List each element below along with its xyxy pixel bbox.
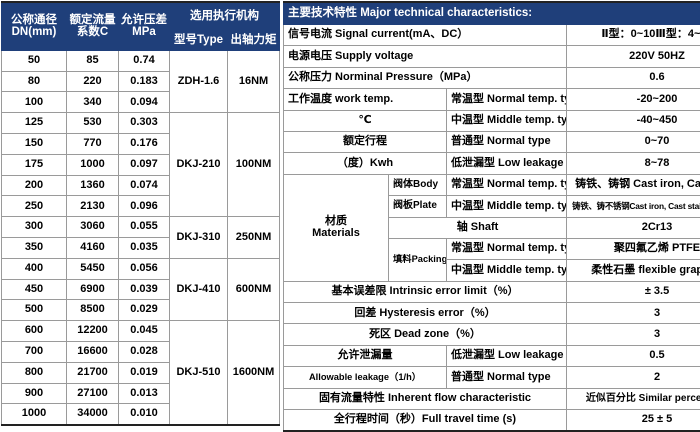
material-plate-middle-label: 中温型 Middle temp. type xyxy=(447,196,567,217)
left-header-row-1: 公称通径DN(mm)额定流量系数C允许压差MPa选用执行机构 xyxy=(2,2,280,30)
work-temp-normal-label: 常温型 Normal temp. type xyxy=(447,89,567,110)
hysteresis-error-value: 3 xyxy=(567,303,700,324)
cell-flow-coefficient: 770 xyxy=(67,133,119,154)
cell-dn: 700 xyxy=(2,341,67,362)
work-temp-label-line1: 工作温度 work temp. xyxy=(284,89,447,110)
technical-characteristics-table-container: 主要技术特性 Major technical characteristics: … xyxy=(283,1,699,432)
leakage-normal-label: 普通型 Normal type xyxy=(447,367,567,388)
cell-pressure-drop: 0.039 xyxy=(119,279,170,300)
cell-dn: 800 xyxy=(2,362,67,383)
cell-flow-coefficient: 6900 xyxy=(67,279,119,300)
cell-flow-coefficient: 85 xyxy=(67,50,119,71)
cell-actuator-type: DKJ-210 xyxy=(170,113,228,217)
material-packing-middle-value: 柔性石墨 flexible graphite xyxy=(567,260,700,281)
cell-flow-coefficient: 12200 xyxy=(67,321,119,342)
specification-sheet: 公称通径DN(mm)额定流量系数C允许压差MPa选用执行机构型号Type出轴力矩… xyxy=(0,0,700,408)
valve-plate-label: 阀板Plate xyxy=(389,196,447,217)
cell-pressure-drop: 0.010 xyxy=(119,404,170,425)
col-header-actuator-group: 选用执行机构 xyxy=(170,2,280,30)
cell-dn: 600 xyxy=(2,321,67,342)
cell-pressure-drop: 0.013 xyxy=(119,383,170,404)
cell-flow-coefficient: 21700 xyxy=(67,362,119,383)
cell-pressure-drop: 0.035 xyxy=(119,237,170,258)
table-row-dead-zone: 死区 Dead zone（%） 3 xyxy=(284,324,700,345)
cell-actuator-type: DKJ-410 xyxy=(170,258,228,320)
cell-dn: 125 xyxy=(2,113,67,134)
leakage-low-label: 低泄漏型 Low leakage type xyxy=(447,345,567,366)
cell-pressure-drop: 0.045 xyxy=(119,321,170,342)
full-travel-time-value: 25 ± 5 xyxy=(567,410,700,432)
cell-dn: 900 xyxy=(2,383,67,404)
nominal-pressure-label: 公称压力 Norminal Pressure（MPa） xyxy=(284,67,567,88)
cell-dn: 350 xyxy=(2,237,67,258)
cell-dn: 80 xyxy=(2,71,67,92)
cell-actuator-type: DKJ-510 xyxy=(170,321,228,425)
work-temp-middle-label: 中温型 Middle temp. type xyxy=(447,110,567,131)
cell-dn: 400 xyxy=(2,258,67,279)
cell-output-torque: 600NM xyxy=(228,258,280,320)
leakage-low-value: 0.5 xyxy=(567,345,700,366)
technical-characteristics-table: 主要技术特性 Major technical characteristics: … xyxy=(283,1,700,432)
cell-flow-coefficient: 220 xyxy=(67,71,119,92)
material-packing-normal-label: 常温型 Normal temp. type xyxy=(447,238,567,259)
cell-pressure-drop: 0.096 xyxy=(119,196,170,217)
cell-flow-coefficient: 2130 xyxy=(67,196,119,217)
supply-voltage-value: 220V 50HZ xyxy=(567,46,700,67)
table-row-flow-characteristic: 固有流量特性 Inherent flow characteristic 近似百分… xyxy=(284,388,700,409)
cell-pressure-drop: 0.029 xyxy=(119,300,170,321)
supply-voltage-label: 电源电压 Supply voltage xyxy=(284,46,567,67)
full-travel-time-label: 全行程时间（秒）Full travel time (s) xyxy=(284,410,567,432)
table-row-leakage-low: 允许泄漏量 低泄漏型 Low leakage type 0.5 xyxy=(284,345,700,366)
cell-pressure-drop: 0.019 xyxy=(119,362,170,383)
material-shaft-value: 2Cr13 xyxy=(567,217,700,238)
nominal-pressure-value: 0.6 xyxy=(567,67,700,88)
material-packing-middle-label: 中温型 Middle temp. type xyxy=(447,260,567,281)
technical-characteristics-title: 主要技术特性 Major technical characteristics: xyxy=(284,2,700,25)
flow-characteristic-value: 近似百分比 Similar percentage xyxy=(567,388,700,409)
cell-pressure-drop: 0.176 xyxy=(119,133,170,154)
table-row-rated-travel-low-leak: （度）Kwh 低泄漏型 Low leakage type 8~78 xyxy=(284,153,700,174)
table-row-rated-travel-normal: 额定行程 普通型 Normal type 0~70 xyxy=(284,131,700,152)
signal-current-value: Ⅱ型：0~10Ⅲ型：4~20 xyxy=(567,25,700,46)
cell-pressure-drop: 0.055 xyxy=(119,217,170,238)
table-row-work-temp-middle: ℃ 中温型 Middle temp. type -40~450 xyxy=(284,110,700,131)
cell-dn: 100 xyxy=(2,92,67,113)
cell-dn: 500 xyxy=(2,300,67,321)
packing-label: 填料Packing xyxy=(389,238,447,281)
material-body-normal-value: 铸铁、铸钢 Cast iron, Cast steel xyxy=(567,174,700,195)
material-body-normal-label: 常温型 Normal temp. type xyxy=(447,174,567,195)
cell-flow-coefficient: 340 xyxy=(67,92,119,113)
intrinsic-error-label: 基本误差限 Intrinsic error limit（%） xyxy=(284,281,567,302)
cell-output-torque: 100NM xyxy=(228,113,280,217)
left-table-header: 公称通径DN(mm)额定流量系数C允许压差MPa选用执行机构型号Type出轴力矩 xyxy=(2,2,280,50)
valve-body-label: 阀体Body xyxy=(389,174,447,195)
table-row-hysteresis: 回差 Hysteresis error（%） 3 xyxy=(284,303,700,324)
cell-actuator-type: ZDH-1.6 xyxy=(170,50,228,112)
table-row: 40054500.056DKJ-410600NM xyxy=(2,258,280,279)
table-row-full-travel-time: 全行程时间（秒）Full travel time (s) 25 ± 5 xyxy=(284,410,700,432)
cell-pressure-drop: 0.183 xyxy=(119,71,170,92)
work-temp-normal-value: -20~200 xyxy=(567,89,700,110)
material-plate-middle-value: 铸铁、铸不锈钢Cast iron, Cast stainless steel xyxy=(567,196,700,217)
materials-label-line1: 材质 xyxy=(288,216,384,228)
cell-dn: 175 xyxy=(2,154,67,175)
material-packing-normal-value: 聚四氟乙烯 PTFE xyxy=(567,238,700,259)
table-title-row: 主要技术特性 Major technical characteristics: xyxy=(284,2,700,25)
table-row-supply-voltage: 电源电压 Supply voltage 220V 50HZ xyxy=(284,46,700,67)
cell-flow-coefficient: 34000 xyxy=(67,404,119,425)
work-temp-middle-value: -40~450 xyxy=(567,110,700,131)
materials-label: 材质 Materials xyxy=(284,174,389,281)
cell-dn: 200 xyxy=(2,175,67,196)
col-header-allowable-pressure-drop: 允许压差MPa xyxy=(119,2,170,50)
cell-pressure-drop: 0.056 xyxy=(119,258,170,279)
intrinsic-error-value: ± 3.5 xyxy=(567,281,700,302)
cell-pressure-drop: 0.097 xyxy=(119,154,170,175)
allowable-leakage-label-line1: 允许泄漏量 xyxy=(284,345,447,366)
table-row-material-body-normal: 材质 Materials 阀体Body 常温型 Normal temp. typ… xyxy=(284,174,700,195)
rated-travel-low-leakage-value: 8~78 xyxy=(567,153,700,174)
cell-pressure-drop: 0.028 xyxy=(119,341,170,362)
table-row: 1255300.303DKJ-210100NM xyxy=(2,113,280,134)
material-shaft-label: 轴 Shaft xyxy=(389,217,567,238)
cell-output-torque: 1600NM xyxy=(228,321,280,425)
cell-dn: 1000 xyxy=(2,404,67,425)
allowable-leakage-label-line2: Allowable leakage（1/h） xyxy=(284,367,447,388)
table-row-work-temp-normal: 工作温度 work temp. 常温型 Normal temp. type -2… xyxy=(284,89,700,110)
cell-dn: 250 xyxy=(2,196,67,217)
dead-zone-label: 死区 Dead zone（%） xyxy=(284,324,567,345)
signal-current-label: 信号电流 Signal current(mA、DC） xyxy=(284,25,567,46)
flow-characteristic-label: 固有流量特性 Inherent flow characteristic xyxy=(284,388,567,409)
cell-flow-coefficient: 8500 xyxy=(67,300,119,321)
cell-output-torque: 16NM xyxy=(228,50,280,112)
flow-coefficient-table: 公称通径DN(mm)额定流量系数C允许压差MPa选用执行机构型号Type出轴力矩… xyxy=(1,1,280,426)
hysteresis-error-label: 回差 Hysteresis error（%） xyxy=(284,303,567,324)
left-table-body: 50850.74ZDH-1.616NM802200.1831003400.094… xyxy=(2,50,280,425)
table-row: 600122000.045DKJ-5101600NM xyxy=(2,321,280,342)
col-header-output-torque: 出轴力矩 xyxy=(228,30,280,51)
table-row-nominal-pressure: 公称压力 Norminal Pressure（MPa） 0.6 xyxy=(284,67,700,88)
cell-flow-coefficient: 3060 xyxy=(67,217,119,238)
table-row-signal-current: 信号电流 Signal current(mA、DC） Ⅱ型：0~10Ⅲ型：4~2… xyxy=(284,25,700,46)
dead-zone-value: 3 xyxy=(567,324,700,345)
cell-flow-coefficient: 4160 xyxy=(67,237,119,258)
cell-flow-coefficient: 1360 xyxy=(67,175,119,196)
cell-dn: 300 xyxy=(2,217,67,238)
cell-pressure-drop: 0.094 xyxy=(119,92,170,113)
cell-flow-coefficient: 16600 xyxy=(67,341,119,362)
cell-flow-coefficient: 5450 xyxy=(67,258,119,279)
cell-actuator-type: DKJ-310 xyxy=(170,217,228,259)
col-header-dn: 公称通径DN(mm) xyxy=(2,2,67,50)
cell-flow-coefficient: 27100 xyxy=(67,383,119,404)
work-temp-label-line2: ℃ xyxy=(284,110,447,131)
table-row: 30030600.055DKJ-310250NM xyxy=(2,217,280,238)
col-header-flow-coefficient: 额定流量系数C xyxy=(67,2,119,50)
cell-pressure-drop: 0.074 xyxy=(119,175,170,196)
leakage-normal-value: 2 xyxy=(567,367,700,388)
cell-output-torque: 250NM xyxy=(228,217,280,259)
rated-travel-normal-value: 0~70 xyxy=(567,131,700,152)
cell-dn: 50 xyxy=(2,50,67,71)
table-row-intrinsic-error: 基本误差限 Intrinsic error limit（%） ± 3.5 xyxy=(284,281,700,302)
cell-pressure-drop: 0.303 xyxy=(119,113,170,134)
cell-dn: 450 xyxy=(2,279,67,300)
cell-flow-coefficient: 530 xyxy=(67,113,119,134)
materials-label-line2: Materials xyxy=(288,228,384,240)
rated-travel-normal-label: 普通型 Normal type xyxy=(447,131,567,152)
cell-dn: 150 xyxy=(2,133,67,154)
rated-travel-label-line2: （度）Kwh xyxy=(284,153,447,174)
cell-pressure-drop: 0.74 xyxy=(119,50,170,71)
rated-travel-label-line1: 额定行程 xyxy=(284,131,447,152)
table-row: 50850.74ZDH-1.616NM xyxy=(2,50,280,71)
flow-coefficient-table-container: 公称通径DN(mm)额定流量系数C允许压差MPa选用执行机构型号Type出轴力矩… xyxy=(1,1,279,426)
rated-travel-low-leakage-label: 低泄漏型 Low leakage type xyxy=(447,153,567,174)
col-header-actuator-type: 型号Type xyxy=(170,30,228,51)
table-row-leakage-normal: Allowable leakage（1/h） 普通型 Normal type 2 xyxy=(284,367,700,388)
cell-flow-coefficient: 1000 xyxy=(67,154,119,175)
